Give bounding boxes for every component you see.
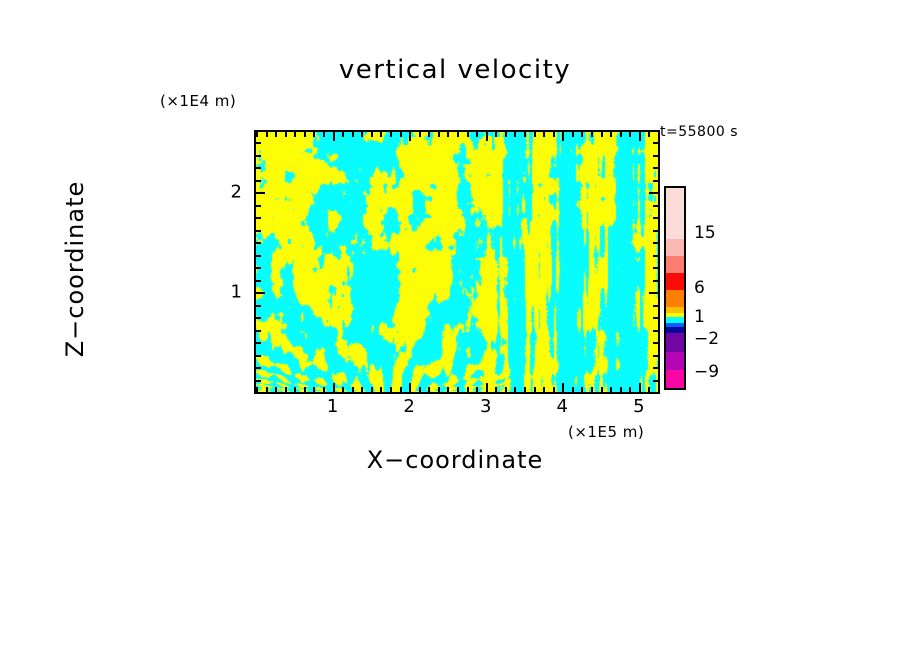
x-top-tick (342, 132, 344, 137)
x-top-tick (438, 132, 440, 137)
x-top-tick (457, 132, 459, 137)
y-right-tick (653, 355, 658, 357)
velocity-field-heatmap (256, 132, 658, 392)
x-minor-tick (581, 387, 583, 392)
x-top-tick (495, 132, 497, 137)
x-minor-tick (457, 387, 459, 392)
x-top-tick (591, 132, 593, 137)
y-right-tick (653, 167, 658, 169)
colorbar-band-pale-pink (666, 188, 684, 239)
x-minor-tick (428, 387, 430, 392)
y-minor-tick (256, 242, 261, 244)
x-major-tick (409, 383, 411, 392)
x-minor-tick (476, 387, 478, 392)
x-minor-tick (380, 387, 382, 392)
x-minor-tick (285, 387, 287, 392)
x-minor-tick (514, 387, 516, 392)
x-minor-tick (447, 387, 449, 392)
figure-canvas: vertical velocity (×1E4 m) (×1E5 m) t=55… (0, 0, 904, 654)
x-minor-tick (572, 387, 574, 392)
y-minor-tick (256, 155, 261, 157)
y-tick-label: 2 (212, 182, 242, 203)
y-right-tick (653, 230, 658, 232)
x-top-tick (610, 132, 612, 137)
y-right-tick (653, 142, 658, 144)
colorbar-tick-label: 6 (694, 278, 705, 298)
y-axis-unit-label: (×1E4 m) (160, 92, 236, 110)
x-top-tick (447, 132, 449, 137)
x-minor-tick (620, 387, 622, 392)
x-top-tick (620, 132, 622, 137)
y-major-tick (256, 292, 265, 294)
y-minor-tick (256, 392, 261, 394)
x-top-tick (553, 132, 555, 137)
x-major-tick (486, 383, 488, 392)
y-right-tick (653, 380, 658, 382)
x-minor-tick (419, 387, 421, 392)
x-top-tick (275, 132, 277, 137)
x-minor-tick (467, 387, 469, 392)
x-major-tick (333, 383, 335, 392)
x-top-tick (390, 132, 392, 137)
y-minor-tick (256, 142, 261, 144)
x-minor-tick (601, 387, 603, 392)
x-top-tick (514, 132, 516, 137)
x-minor-tick (313, 387, 315, 392)
y-right-tick (653, 367, 658, 369)
y-right-tick (649, 292, 658, 294)
y-right-tick (649, 192, 658, 194)
y-right-tick (653, 280, 658, 282)
y-right-tick (653, 217, 658, 219)
colorbar-band-red (666, 273, 684, 290)
x-top-tick (409, 132, 411, 141)
x-top-tick (639, 132, 641, 141)
x-minor-tick (534, 387, 536, 392)
y-minor-tick (256, 217, 261, 219)
x-top-tick (333, 132, 335, 141)
x-top-tick (467, 132, 469, 137)
y-right-tick (653, 155, 658, 157)
x-top-tick (371, 132, 373, 137)
colorbar-band-purple (666, 333, 684, 352)
x-top-tick (476, 132, 478, 137)
x-top-tick (581, 132, 583, 137)
x-top-tick (428, 132, 430, 137)
x-top-tick (629, 132, 631, 137)
x-top-tick (361, 132, 363, 137)
x-top-tick (572, 132, 574, 137)
x-top-tick (524, 132, 526, 137)
colorbar-band-magenta (666, 370, 684, 388)
plot-area (254, 130, 660, 394)
y-minor-tick (256, 342, 261, 344)
y-minor-tick (256, 317, 261, 319)
colorbar-band-orange (666, 290, 684, 307)
y-minor-tick (256, 230, 261, 232)
x-tick-label: 1 (327, 396, 338, 417)
y-minor-tick (256, 267, 261, 269)
timestamp-annotation: t=55800 s (660, 124, 738, 140)
x-top-tick (266, 132, 268, 137)
x-top-tick (486, 132, 488, 141)
colorbar-tick-label: 15 (694, 223, 716, 243)
y-right-tick (653, 330, 658, 332)
colorbar-tick-label: 1 (694, 307, 705, 327)
y-minor-tick (256, 380, 261, 382)
x-axis-title: X−coordinate (254, 446, 656, 474)
x-axis-unit-label: (×1E5 m) (568, 423, 644, 441)
x-minor-tick (361, 387, 363, 392)
x-top-tick (313, 132, 315, 137)
x-minor-tick (304, 387, 306, 392)
y-right-tick (653, 305, 658, 307)
y-right-tick (653, 392, 658, 394)
y-right-tick (653, 205, 658, 207)
x-minor-tick (591, 387, 593, 392)
x-top-tick (323, 132, 325, 137)
x-top-tick (658, 132, 660, 137)
x-top-tick (419, 132, 421, 137)
x-minor-tick (400, 387, 402, 392)
x-top-tick (294, 132, 296, 137)
y-major-tick (256, 192, 265, 194)
x-minor-tick (438, 387, 440, 392)
y-minor-tick (256, 305, 261, 307)
x-top-tick (400, 132, 402, 137)
x-top-tick (543, 132, 545, 137)
x-minor-tick (275, 387, 277, 392)
y-minor-tick (256, 180, 261, 182)
x-minor-tick (294, 387, 296, 392)
x-top-tick (601, 132, 603, 137)
x-minor-tick (352, 387, 354, 392)
y-right-tick (653, 242, 658, 244)
y-right-tick (653, 180, 658, 182)
y-minor-tick (256, 367, 261, 369)
y-right-tick (653, 317, 658, 319)
x-top-tick (505, 132, 507, 137)
x-minor-tick (629, 387, 631, 392)
x-minor-tick (505, 387, 507, 392)
x-minor-tick (495, 387, 497, 392)
x-minor-tick (543, 387, 545, 392)
x-minor-tick (266, 387, 268, 392)
colorbar-tick-label: −9 (694, 362, 719, 382)
x-minor-tick (610, 387, 612, 392)
x-minor-tick (524, 387, 526, 392)
page-title: vertical velocity (254, 55, 656, 85)
x-top-tick (256, 132, 258, 137)
y-minor-tick (256, 330, 261, 332)
colorbar-band-violet (666, 352, 684, 370)
x-top-tick (562, 132, 564, 141)
y-minor-tick (256, 280, 261, 282)
y-minor-tick (256, 205, 261, 207)
x-top-tick (285, 132, 287, 137)
colorbar-tick-label: −2 (694, 329, 719, 349)
x-minor-tick (553, 387, 555, 392)
x-top-tick (304, 132, 306, 137)
x-top-tick (352, 132, 354, 137)
x-minor-tick (390, 387, 392, 392)
x-minor-tick (648, 387, 650, 392)
x-minor-tick (323, 387, 325, 392)
x-minor-tick (371, 387, 373, 392)
y-right-tick (653, 342, 658, 344)
x-tick-label: 3 (480, 396, 491, 417)
x-tick-label: 2 (403, 396, 414, 417)
y-right-tick (653, 267, 658, 269)
x-minor-tick (658, 387, 660, 392)
y-minor-tick (256, 167, 261, 169)
colorbar (664, 186, 686, 390)
x-top-tick (534, 132, 536, 137)
x-major-tick (639, 383, 641, 392)
colorbar-band-salmon (666, 256, 684, 273)
x-top-tick (380, 132, 382, 137)
y-axis-title: Z−coordinate (61, 139, 89, 399)
x-top-tick (648, 132, 650, 137)
x-major-tick (562, 383, 564, 392)
y-tick-label: 1 (212, 282, 242, 303)
y-right-tick (653, 255, 658, 257)
x-tick-label: 5 (633, 396, 644, 417)
colorbar-band-pink (666, 239, 684, 256)
y-minor-tick (256, 255, 261, 257)
y-minor-tick (256, 355, 261, 357)
x-minor-tick (342, 387, 344, 392)
x-tick-label: 4 (557, 396, 568, 417)
